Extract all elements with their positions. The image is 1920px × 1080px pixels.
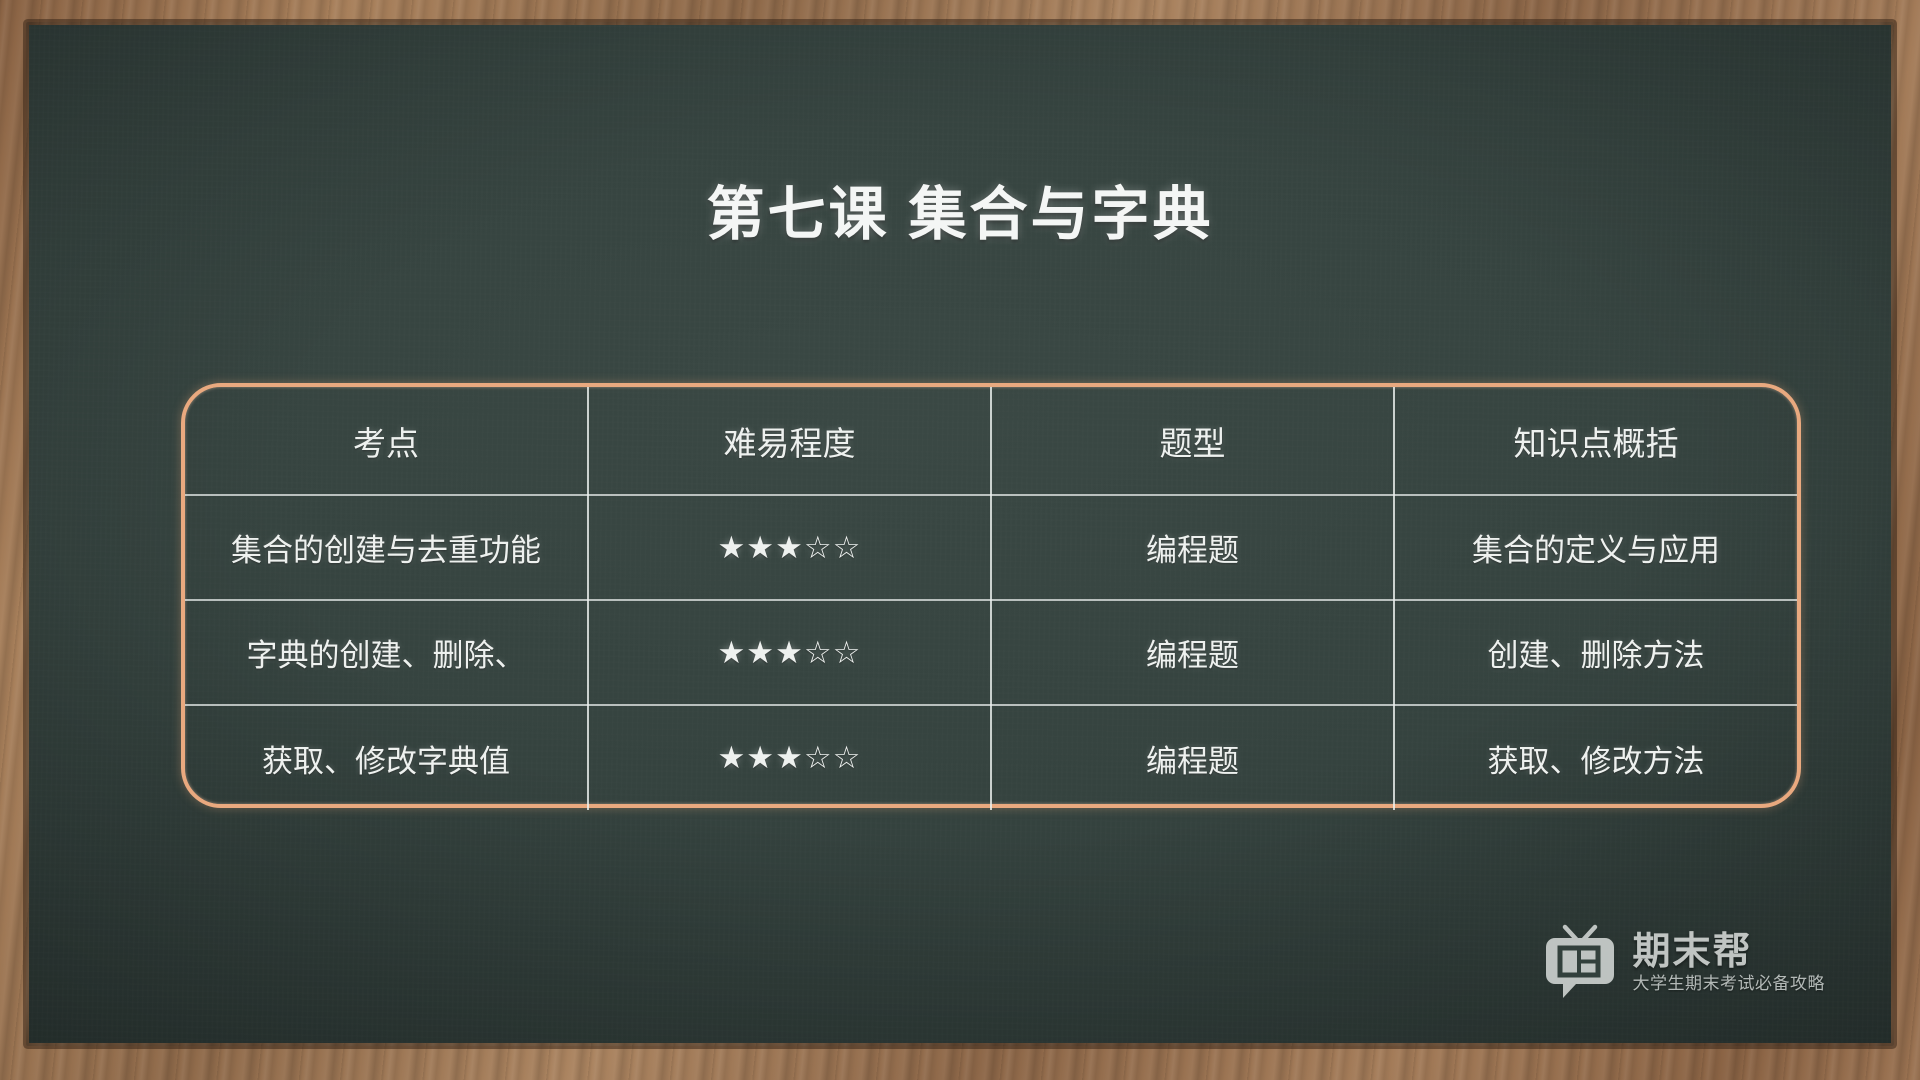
cell-difficulty: ★★★☆☆: [588, 705, 991, 810]
table-header: 考点 难易程度 题型 知识点概括: [185, 387, 1797, 495]
cell-summary: 创建、删除方法: [1394, 600, 1797, 705]
cell-topic: 字典的创建、删除、: [185, 600, 588, 705]
logo-name: 期末帮: [1633, 933, 1826, 971]
cell-question-type: 编程题: [991, 495, 1394, 600]
cell-question-type: 编程题: [991, 705, 1394, 810]
column-header-difficulty: 难易程度: [588, 387, 991, 495]
table-body: 集合的创建与去重功能 ★★★☆☆ 编程题 集合的定义与应用 字典的创建、删除、 …: [185, 495, 1797, 810]
difficulty-stars: ★★★☆☆: [718, 530, 862, 565]
difficulty-stars: ★★★☆☆: [718, 635, 862, 670]
summary-table-card: 考点 难易程度 题型 知识点概括 集合的创建与去重功能 ★★★☆☆ 编程题 集合…: [181, 383, 1801, 808]
cell-question-type: 编程题: [991, 600, 1394, 705]
cell-topic: 获取、修改字典值: [185, 705, 588, 810]
difficulty-stars: ★★★☆☆: [718, 740, 862, 775]
page-title: 第七课 集合与字典: [29, 167, 1891, 251]
column-header-question-type: 题型: [991, 387, 1394, 495]
cell-summary: 获取、修改方法: [1394, 705, 1797, 810]
cell-summary: 集合的定义与应用: [1394, 495, 1797, 600]
summary-table: 考点 难易程度 题型 知识点概括 集合的创建与去重功能 ★★★☆☆ 编程题 集合…: [185, 387, 1797, 810]
cell-difficulty: ★★★☆☆: [588, 495, 991, 600]
table-row: 获取、修改字典值 ★★★☆☆ 编程题 获取、修改方法: [185, 705, 1797, 810]
column-header-summary: 知识点概括: [1394, 387, 1797, 495]
cell-difficulty: ★★★☆☆: [588, 600, 991, 705]
logo-text-block: 期末帮 大学生期末考试必备攻略: [1633, 933, 1826, 992]
tv-speech-bubble-icon: [1543, 923, 1617, 1001]
logo-tagline: 大学生期末考试必备攻略: [1633, 975, 1826, 992]
column-header-topic: 考点: [185, 387, 588, 495]
chalkboard: 第七课 集合与字典 考点 难易程度 题型 知识点概括 集合的创建与去重功能 ★★…: [29, 25, 1891, 1043]
table-header-row: 考点 难易程度 题型 知识点概括: [185, 387, 1797, 495]
cell-topic: 集合的创建与去重功能: [185, 495, 588, 600]
wooden-frame: 第七课 集合与字典 考点 难易程度 题型 知识点概括 集合的创建与去重功能 ★★…: [0, 0, 1920, 1080]
watermark-logo: 期末帮 大学生期末考试必备攻略: [1543, 923, 1826, 1001]
table-row: 集合的创建与去重功能 ★★★☆☆ 编程题 集合的定义与应用: [185, 495, 1797, 600]
table-row: 字典的创建、删除、 ★★★☆☆ 编程题 创建、删除方法: [185, 600, 1797, 705]
